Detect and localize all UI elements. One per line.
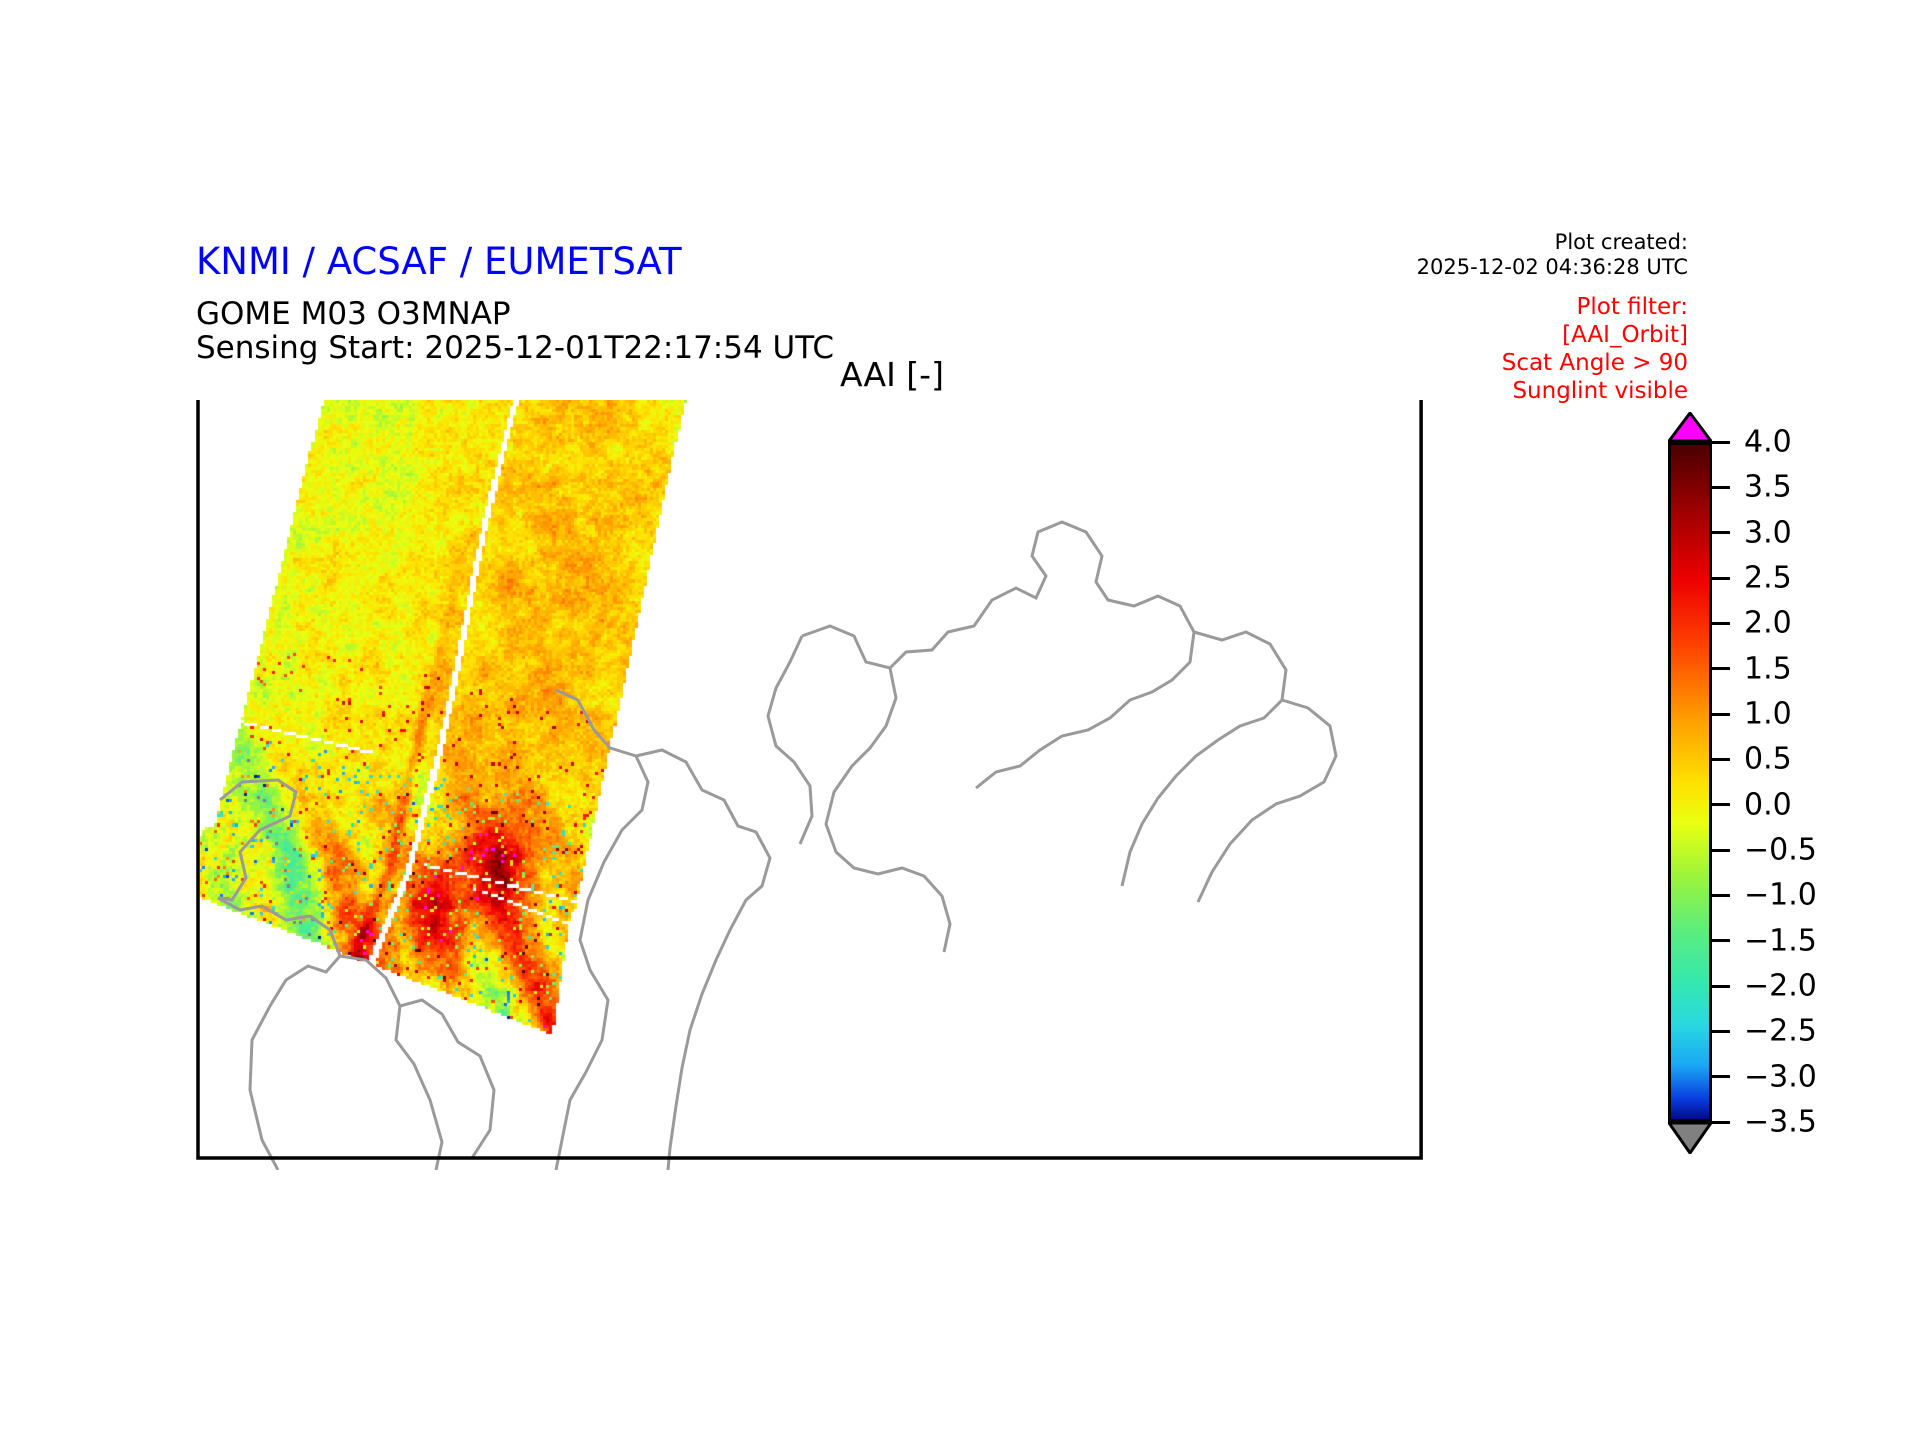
map-border-path <box>198 400 1421 1158</box>
product-line: GOME M03 O3MNAP <box>196 296 511 332</box>
colorbar-over-arrow-outline <box>1668 412 1712 442</box>
colorbar-tick-label: −3.5 <box>1744 1105 1817 1140</box>
coastline-path <box>218 898 340 1170</box>
coastline-path <box>400 1000 494 1158</box>
colorbar-tick-label: −1.5 <box>1744 923 1817 958</box>
coastline-path <box>218 780 296 900</box>
colorbar-tick-label: −3.0 <box>1744 1059 1817 1094</box>
plot-created-label: Plot created: <box>1417 230 1688 255</box>
colorbar-tick <box>1712 1030 1730 1033</box>
map-panel[interactable] <box>190 400 1570 1170</box>
colorbar-tick <box>1712 531 1730 534</box>
colorbar-tick <box>1712 622 1730 625</box>
plot-filter-condition: Scat Angle > 90 <box>1502 349 1688 377</box>
colorbar-tick <box>1712 939 1730 942</box>
plot-created-block: Plot created: 2025-12-02 04:36:28 UTC <box>1417 230 1688 280</box>
colorbar-tick <box>1712 577 1730 580</box>
colorbar[interactable]: 4.03.53.02.52.01.51.00.50.0−0.5−1.0−1.5−… <box>1660 412 1890 1172</box>
colorbar-gradient-bar <box>1668 442 1712 1122</box>
coastline-path <box>636 750 770 1170</box>
coastline-path <box>826 668 950 952</box>
coastlines <box>218 522 1336 1170</box>
colorbar-tick-label: 2.0 <box>1744 606 1792 641</box>
colorbar-tick-label: 1.5 <box>1744 651 1792 686</box>
colorbar-tick <box>1712 1121 1730 1124</box>
map-overlay <box>190 400 1570 1170</box>
coastline-path <box>1198 700 1336 902</box>
plot-filter-label: Plot filter: <box>1502 293 1688 321</box>
colorbar-tick-label: 4.0 <box>1744 425 1792 460</box>
coastline-path <box>1122 632 1286 886</box>
colorbar-tick <box>1712 803 1730 806</box>
plot-filter-value: [AAI_Orbit] <box>1502 321 1688 349</box>
page-title: AAI [-] <box>840 355 944 394</box>
plot-filter-block: Plot filter: [AAI_Orbit] Scat Angle > 90… <box>1502 293 1688 405</box>
colorbar-tick <box>1712 441 1730 444</box>
colorbar-tick <box>1712 849 1730 852</box>
colorbar-tick-label: −1.0 <box>1744 878 1817 913</box>
colorbar-tick-label: 3.0 <box>1744 515 1792 550</box>
coastline-path <box>340 956 442 1170</box>
colorbar-tick <box>1712 667 1730 670</box>
coastline-path <box>768 636 812 844</box>
colorbar-tick-label: 0.0 <box>1744 787 1792 822</box>
sensing-start-line: Sensing Start: 2025-12-01T22:17:54 UTC <box>196 330 834 366</box>
colorbar-tick <box>1712 713 1730 716</box>
colorbar-tick-label: −2.5 <box>1744 1014 1817 1049</box>
colorbar-tick <box>1712 758 1730 761</box>
organisation-title: KNMI / ACSAF / EUMETSAT <box>196 240 682 283</box>
colorbar-tick <box>1712 894 1730 897</box>
colorbar-tick-label: −2.0 <box>1744 969 1817 1004</box>
coastline-path <box>556 690 648 1170</box>
colorbar-under-arrow-outline <box>1668 1122 1712 1154</box>
colorbar-tick <box>1712 1075 1730 1078</box>
colorbar-tick <box>1712 486 1730 489</box>
colorbar-tick-label: 1.0 <box>1744 697 1792 732</box>
colorbar-gradient <box>1671 445 1709 1119</box>
colorbar-tick-label: −0.5 <box>1744 833 1817 868</box>
colorbar-tick-label: 2.5 <box>1744 561 1792 596</box>
colorbar-tick-label: 0.5 <box>1744 742 1792 777</box>
colorbar-tick-label: 3.5 <box>1744 470 1792 505</box>
plot-created-value: 2025-12-02 04:36:28 UTC <box>1417 255 1688 280</box>
colorbar-tick <box>1712 985 1730 988</box>
coastline-path <box>802 522 1194 788</box>
map-frame-border <box>198 400 1421 1158</box>
